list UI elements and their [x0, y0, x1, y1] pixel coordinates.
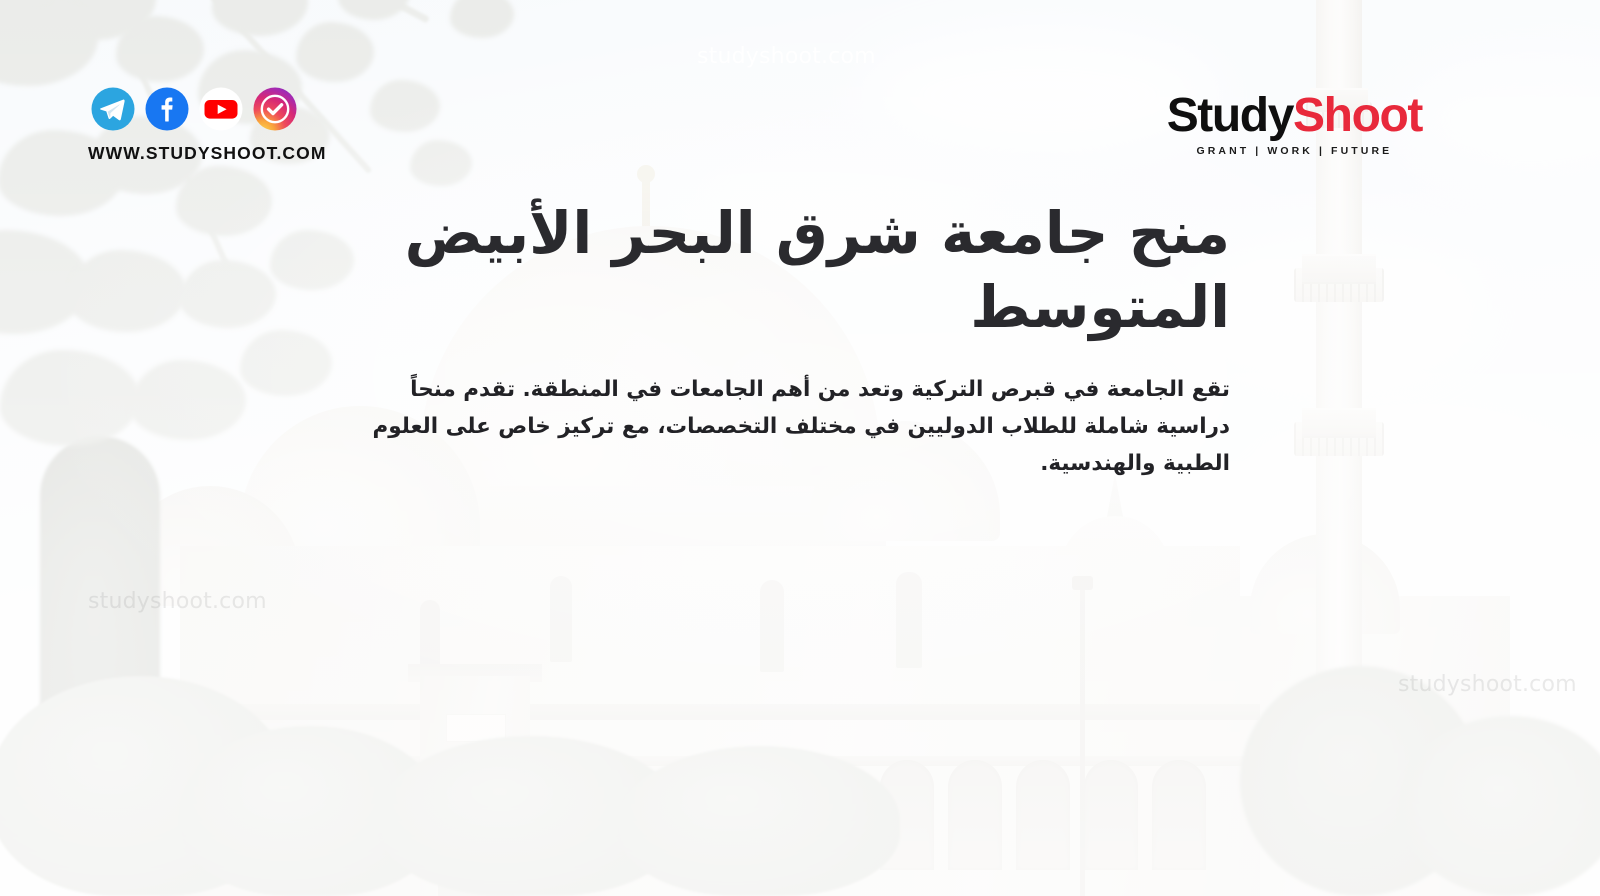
youtube-icon[interactable] [196, 84, 246, 134]
logo-part-shoot: Shoot [1293, 89, 1422, 142]
social-links [88, 84, 300, 134]
page-title: منح جامعة شرق البحر الأبيض المتوسط [370, 196, 1230, 344]
copy-block: منح جامعة شرق البحر الأبيض المتوسط تقع ا… [370, 196, 1230, 483]
logo-wordmark: StudyShoot [1167, 92, 1422, 140]
site-url: WWW.STUDYSHOOT.COM [88, 143, 327, 164]
scholarship-banner: studyshoot.com studyshoot.com studyshoot… [0, 0, 1600, 896]
instagram-check-icon[interactable] [250, 84, 300, 134]
telegram-icon[interactable] [88, 84, 138, 134]
logo-part-study: Study [1167, 89, 1293, 142]
body-paragraph: تقع الجامعة في قبرص التركية وتعد من أهم … [370, 372, 1230, 483]
studyshoot-logo[interactable]: StudyShoot GRANT | WORK | FUTURE [1167, 92, 1422, 157]
facebook-icon[interactable] [142, 84, 192, 134]
logo-tagline: GRANT | WORK | FUTURE [1167, 145, 1422, 157]
